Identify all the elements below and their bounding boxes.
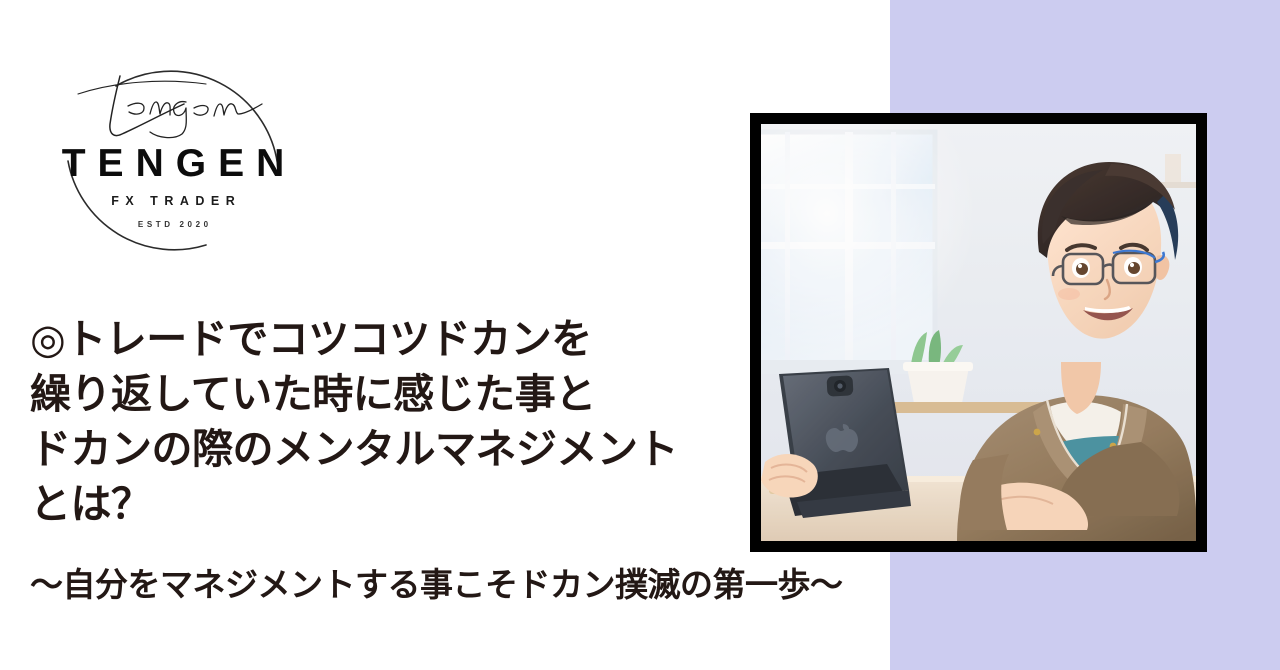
illustration-frame [750,113,1207,552]
man-with-tablet-illustration [761,124,1196,541]
headline-block: ◎トレードでコツコツドカンを 繰り返していた時に感じた事と ドカンの際のメンタル… [30,312,790,532]
headline-line-3: ドカンの際のメンタルマネジメント [30,422,790,477]
headline-line-1: ◎トレードでコツコツドカンを [30,312,790,367]
headline-line-4: とは？ [30,477,790,532]
headline-line-2: 繰り返していた時に感じた事と [30,367,790,422]
logo-script-signature [66,62,286,144]
logo-subtitle: FX TRADER [28,194,318,208]
subheadline: 〜自分をマネジメントする事こそドカン撲滅の第一歩〜 [30,563,843,607]
slide-canvas: TENGEN FX TRADER ESTD 2020 ◎トレードでコツコツドカン… [0,0,1280,670]
logo-wordmark: TENGEN [28,144,318,183]
brand-logo: TENGEN FX TRADER ESTD 2020 [28,46,318,256]
logo-established: ESTD 2020 [28,220,318,229]
illustration-image [761,124,1196,541]
